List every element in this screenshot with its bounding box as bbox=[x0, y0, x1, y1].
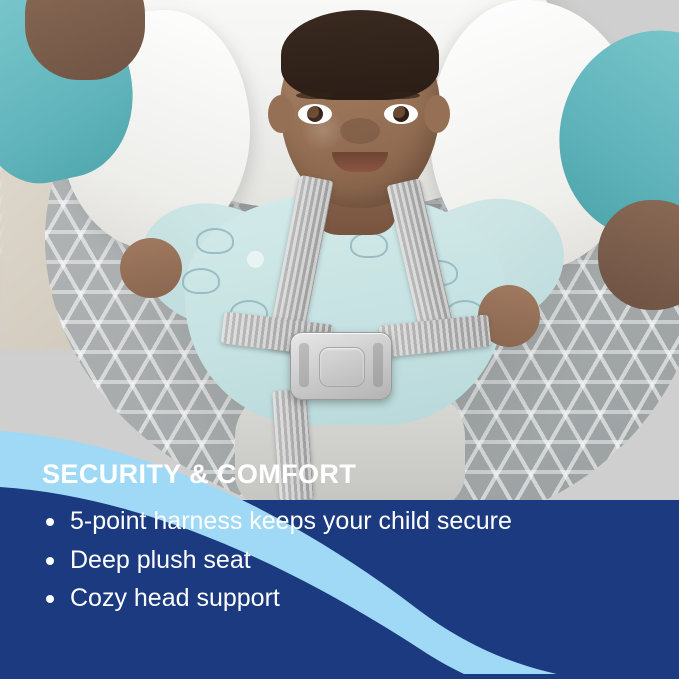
feature-text: 5-point harness keeps your child secure bbox=[70, 507, 512, 535]
baby-ear-left bbox=[268, 95, 294, 133]
buckle-slot-right bbox=[373, 343, 383, 387]
pajama-motif bbox=[350, 232, 388, 258]
pajama-motif bbox=[196, 228, 234, 254]
baby-nose bbox=[340, 118, 380, 144]
buckle-slot-left bbox=[299, 343, 309, 387]
baby-eye-right bbox=[384, 104, 418, 124]
feature-list-item: 5-point harness keeps your child secure bbox=[40, 504, 639, 540]
cheek-highlight bbox=[300, 110, 346, 150]
banner-text-block: SECURITY & COMFORT 5-point harness keeps… bbox=[0, 459, 679, 679]
baby-hair bbox=[281, 10, 439, 100]
baby-brow-left bbox=[296, 92, 334, 99]
feature-text: Deep plush seat bbox=[70, 546, 251, 574]
bullet-icon bbox=[46, 557, 54, 565]
bullet-icon bbox=[46, 595, 54, 603]
baby-hand-left bbox=[120, 238, 182, 298]
pajama-motif bbox=[182, 268, 220, 294]
feature-list-item: Deep plush seat bbox=[40, 543, 639, 579]
product-feature-card: SECURITY & COMFORT 5-point harness keeps… bbox=[0, 0, 679, 679]
banner-headline: SECURITY & COMFORT bbox=[42, 459, 639, 490]
feature-list: 5-point harness keeps your child secure … bbox=[40, 504, 639, 617]
bullet-icon bbox=[46, 518, 54, 526]
baby-brow-right bbox=[382, 92, 420, 99]
baby-ear-right bbox=[424, 95, 450, 133]
feature-text: Cozy head support bbox=[70, 584, 280, 612]
harness-buckle bbox=[290, 332, 392, 400]
product-photo bbox=[0, 0, 679, 500]
buckle-release-button bbox=[319, 347, 365, 387]
feature-list-item: Cozy head support bbox=[40, 581, 639, 617]
